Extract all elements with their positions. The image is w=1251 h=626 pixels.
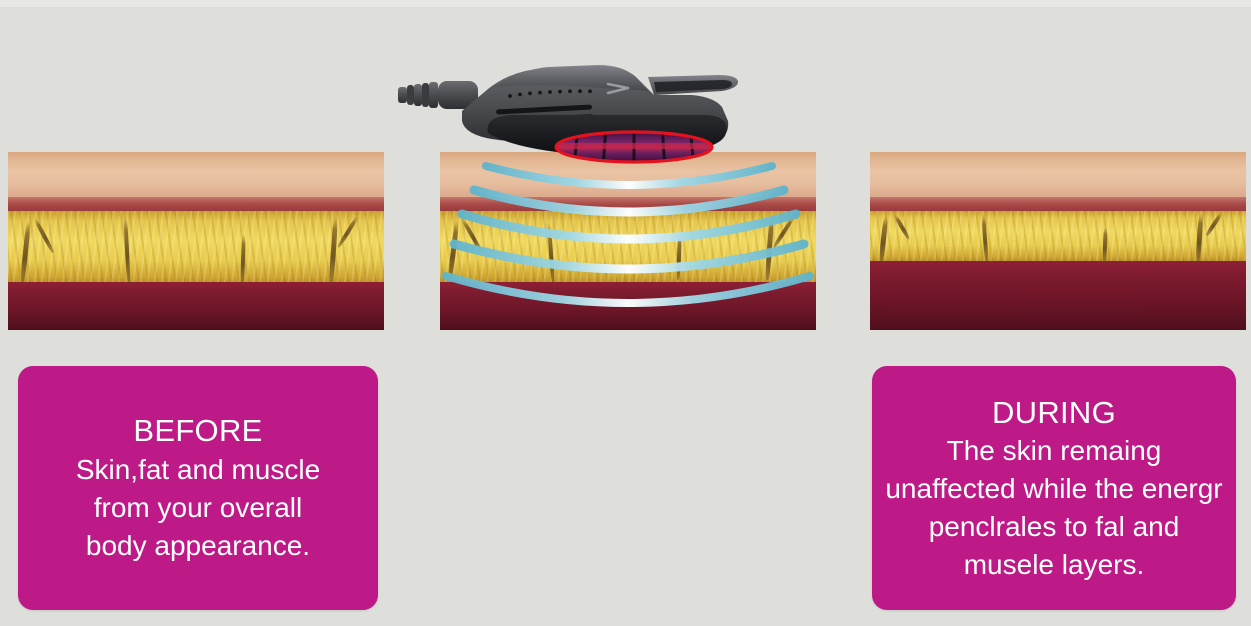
- card-line: Skin,fat and muscle: [76, 451, 320, 489]
- fat-layer: [870, 211, 1246, 263]
- fat-layer: [440, 211, 816, 284]
- skin-cross-section-after: [870, 152, 1246, 330]
- muscle-layer: [870, 261, 1246, 330]
- muscle-layer: [8, 282, 384, 330]
- card-line: body appearance.: [76, 527, 320, 565]
- card-title-before: BEFORE: [133, 411, 262, 451]
- infographic-canvas: BEFORE Skin,fat and muscle from your ove…: [0, 0, 1251, 626]
- skin-cross-section-during: [440, 152, 816, 330]
- treatment-applicator-handpiece: [392, 55, 782, 165]
- muscle-layer: [440, 282, 816, 330]
- caption-card-before: BEFORE Skin,fat and muscle from your ove…: [18, 366, 378, 610]
- cable-connector-icon: [398, 81, 478, 109]
- fat-layer: [8, 211, 384, 284]
- panel-before: BEFORE Skin,fat and muscle from your ove…: [0, 0, 400, 626]
- epidermis-layer: [870, 152, 1246, 198]
- panel-after: AFTER This reanlts in soubshintial impro…: [860, 0, 1251, 626]
- card-body-before: Skin,fat and muscle from your overall bo…: [76, 451, 320, 564]
- skin-cross-section-before: [8, 152, 384, 330]
- epidermis-layer: [8, 152, 384, 198]
- card-line: from your overall: [76, 489, 320, 527]
